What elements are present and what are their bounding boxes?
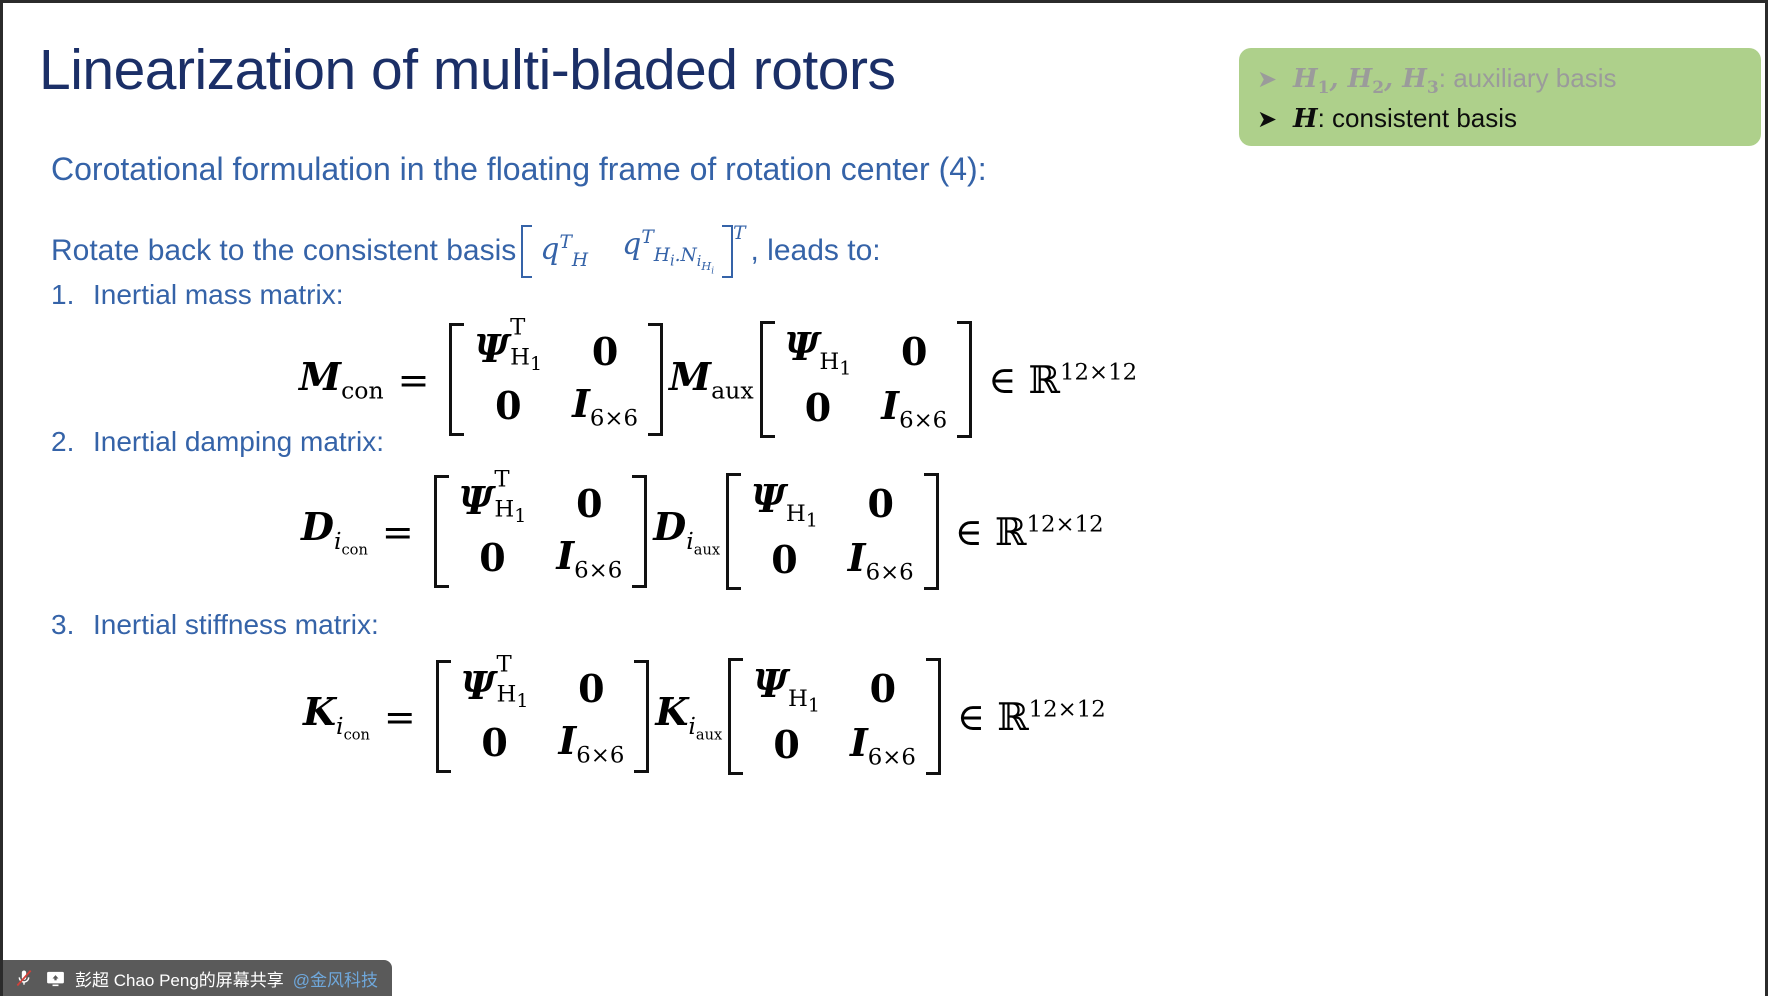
matrix-cell-11: ΨH1 (753, 662, 820, 717)
eq2-right-matrix: ΨH1 0 0 I6×6 (726, 473, 939, 590)
list-label-2: Inertial damping matrix: (93, 426, 384, 457)
presentation-slide: Linearization of multi-bladed rotors ➤ H… (0, 0, 1768, 996)
equation-inertial-mass: Mcon = ΨTH1 0 0 I6×6 Maux ΨH1 0 0 I6×6 ∈… (299, 321, 1137, 438)
eq1-middle: Maux (669, 354, 754, 405)
page-title: Linearization of multi-bladed rotors (39, 39, 895, 102)
list-label-3: Inertial stiffness matrix: (93, 609, 379, 640)
bracket-left (521, 225, 532, 278)
eq1-space: ℝ12×12 (1016, 358, 1137, 402)
bracket-right (722, 225, 733, 278)
list-item-inertial-stiffness: 3.Inertial stiffness matrix: (51, 609, 379, 641)
matrix-cell-12: 0 (868, 482, 894, 527)
bracket-left (434, 475, 449, 588)
matrix-grid: ΨTH1 0 0 I6×6 (451, 660, 635, 773)
arrow-bullet-icon: ➤ (1257, 60, 1279, 100)
matrix-cell-22: I6×6 (558, 719, 624, 769)
eq3-left-matrix: ΨTH1 0 0 I6×6 (436, 660, 650, 773)
list-number-3: 3. (51, 609, 93, 641)
matrix-cell-21: 0 (479, 536, 505, 581)
bracket-left (436, 660, 451, 773)
eq1-lhs: Mcon (299, 354, 384, 405)
rotate-back-line: Rotate back to the consistent basis qTH … (51, 225, 881, 278)
matrix-cell-11: ΨH1 (751, 477, 818, 532)
matrix-cell-22: I6×6 (881, 384, 947, 434)
bracket-right (632, 475, 647, 588)
eq1-left-matrix: ΨTH1 0 0 I6×6 (449, 323, 663, 436)
transpose-superscript: T (733, 223, 745, 244)
eq1-right-matrix: ΨH1 0 0 I6×6 (760, 321, 973, 438)
eq2-space: ℝ12×12 (983, 510, 1104, 554)
matrix-grid: ΨH1 0 0 I6×6 (775, 321, 958, 438)
eq1-equals: = (398, 358, 430, 402)
eq2-membership: ∈ (955, 510, 983, 554)
bracket-left (728, 658, 743, 775)
bracket-right (634, 660, 649, 773)
eq3-membership: ∈ (957, 695, 985, 739)
arrow-bullet-icon: ➤ (1257, 100, 1279, 140)
bracket-left (449, 323, 464, 436)
matrix-grid: ΨH1 0 0 I6×6 (743, 658, 926, 775)
matrix-cell-11: ΨTH1 (459, 479, 527, 530)
eq2-lhs: Dicon (301, 504, 368, 558)
eq2-equals: = (382, 510, 414, 554)
eq3-equals: = (384, 695, 416, 739)
matrix-cell-21: 0 (773, 723, 799, 768)
callout-text-consistent: H: consistent basis (1293, 98, 1517, 139)
screen-share-icon[interactable] (44, 967, 66, 989)
callout-label-consistent: : consistent basis (1318, 103, 1517, 133)
matrix-grid: ΨTH1 0 0 I6×6 (464, 323, 648, 436)
matrix-cell-21: 0 (481, 721, 507, 766)
eq3-space: ℝ12×12 (985, 695, 1106, 739)
rotate-back-prefix: Rotate back to the consistent basis (51, 234, 516, 268)
list-number-1: 1. (51, 279, 93, 311)
matrix-cell-11: ΨH1 (785, 325, 852, 380)
vector-components: qTH qTHi.NiHi (532, 225, 722, 278)
bracket-right (648, 323, 663, 436)
eq3-lhs: Kicon (303, 689, 370, 743)
callout-row-auxiliary-basis: ➤ H1, H2, H3: auxiliary basis (1257, 58, 1747, 98)
matrix-cell-12: 0 (592, 330, 618, 375)
section-subtitle: Corotational formulation in the floating… (51, 151, 987, 188)
matrix-cell-11: ΨTH1 (474, 327, 542, 378)
share-owner-label: 彭超 Chao Peng的屏幕共享 (75, 966, 284, 991)
bracket-right (926, 658, 941, 775)
eq2-left-matrix: ΨTH1 0 0 I6×6 (434, 475, 648, 588)
q-HiN-term: qTHi.NiHi (622, 227, 714, 276)
consistent-basis-vector-math: qTH qTHi.NiHi T (521, 225, 745, 278)
microphone-muted-icon[interactable] (13, 967, 35, 989)
matrix-cell-22: I6×6 (848, 536, 914, 586)
bracket-right (924, 473, 939, 590)
matrix-cell-21: 0 (805, 386, 831, 431)
matrix-cell-12: 0 (901, 330, 927, 375)
screen-share-banner: 彭超 Chao Peng的屏幕共享 @金风科技 (3, 960, 392, 996)
share-owner-handle: @金风科技 (293, 966, 378, 991)
matrix-cell-22: I6×6 (572, 382, 638, 432)
list-label-1: Inertial mass matrix: (93, 279, 344, 310)
matrix-grid: ΨTH1 0 0 I6×6 (449, 475, 633, 588)
callout-box: ➤ H1, H2, H3: auxiliary basis ➤ H: consi… (1239, 48, 1761, 146)
matrix-cell-12: 0 (870, 667, 896, 712)
matrix-grid: ΨH1 0 0 I6×6 (741, 473, 924, 590)
matrix-cell-12: 0 (576, 482, 602, 527)
eq1-membership: ∈ (988, 358, 1016, 402)
q-H-term: qTH (540, 232, 588, 271)
eq2-middle: Diaux (653, 504, 720, 558)
eq3-right-matrix: ΨH1 0 0 I6×6 (728, 658, 941, 775)
list-item-inertial-mass: 1.Inertial mass matrix: (51, 279, 344, 311)
list-number-2: 2. (51, 426, 93, 458)
matrix-cell-22: I6×6 (850, 721, 916, 771)
bracket-left (760, 321, 775, 438)
equation-inertial-stiffness: Kicon = ΨTH1 0 0 I6×6 Kiaux ΨH1 0 0 I6×6… (303, 658, 1106, 775)
bracket-left (726, 473, 741, 590)
matrix-cell-11: ΨTH1 (461, 664, 529, 715)
list-item-inertial-damping: 2.Inertial damping matrix: (51, 426, 384, 458)
matrix-cell-21: 0 (495, 384, 521, 429)
eq3-middle: Kiaux (655, 689, 722, 743)
callout-row-consistent-basis: ➤ H: consistent basis (1257, 98, 1747, 138)
matrix-cell-21: 0 (771, 538, 797, 583)
bracket-right (957, 321, 972, 438)
matrix-cell-22: I6×6 (556, 534, 622, 584)
callout-label-auxiliary: : auxiliary basis (1439, 63, 1617, 93)
equation-inertial-damping: Dicon = ΨTH1 0 0 I6×6 Diaux ΨH1 0 0 I6×6… (301, 473, 1104, 590)
matrix-cell-12: 0 (578, 667, 604, 712)
rotate-back-suffix: , leads to: (751, 234, 881, 268)
